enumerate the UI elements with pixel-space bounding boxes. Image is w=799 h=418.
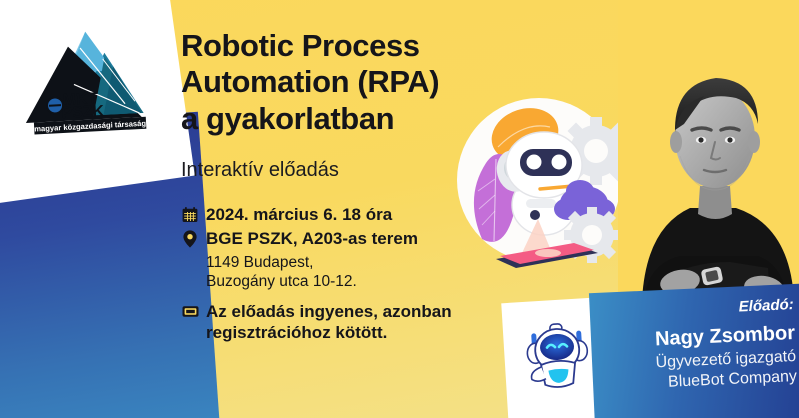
spacer-icon: [181, 253, 199, 273]
bluebot-mascot-icon: [516, 314, 599, 397]
speaker-label: Előadó:: [608, 297, 795, 322]
detail-address-text: 1149 Budapest, Buzogány utca 10-12.: [206, 253, 357, 292]
event-poster: MKT PSZK magyar közgazdasági társaság: [0, 0, 799, 418]
detail-venue: BGE PSZK, A203-as terem: [181, 228, 511, 249]
detail-registration-text: Az előadás ingyenes, azonban regisztráci…: [206, 301, 452, 344]
detail-registration: Az előadás ingyenes, azonban regisztráci…: [181, 301, 511, 344]
detail-date-text: 2024. március 6. 18 óra: [206, 204, 392, 225]
title-line-3: a gyakorlatban: [181, 101, 394, 136]
title-line-2: Automation (RPA): [181, 64, 439, 99]
event-details: 2024. március 6. 18 óra BGE PSZK, A203-a…: [181, 204, 511, 344]
subtitle: Interaktív előadás: [181, 159, 511, 182]
detail-date: 2024. március 6. 18 óra: [181, 204, 511, 225]
location-pin-icon: [181, 228, 199, 248]
speaker-photo: [618, 0, 799, 300]
detail-venue-text: BGE PSZK, A203-as terem: [206, 228, 418, 249]
speaker-info-panel: Előadó: Nagy Zsombor Ügyvezető igazgató …: [589, 283, 799, 418]
page-title: Robotic ProcessAutomation (RPA)a gyakorl…: [181, 28, 511, 137]
main-text-column: Robotic ProcessAutomation (RPA)a gyakorl…: [181, 28, 511, 346]
calendar-icon: [181, 204, 199, 224]
ticket-icon: [181, 301, 199, 321]
mkt-pszk-logo: MKT PSZK magyar közgazdasági társaság: [15, 21, 149, 150]
detail-address: 1149 Budapest, Buzogány utca 10-12.: [181, 253, 511, 292]
title-line-1: Robotic Process: [181, 28, 420, 63]
